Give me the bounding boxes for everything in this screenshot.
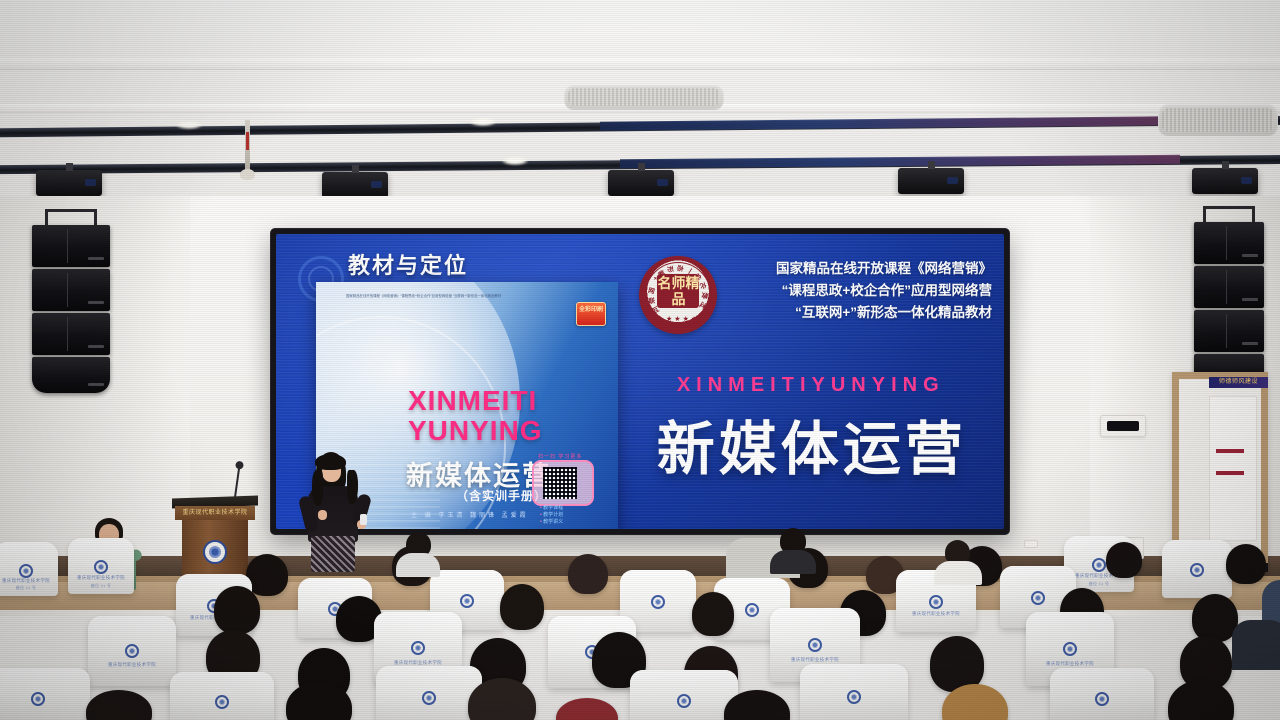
school-emblem-icon (929, 595, 943, 609)
book-pinyin-line1: XINMEITI (408, 385, 537, 416)
book-qr-bubble: 扫一扫 学习更多 教学课程 教学计划 教学讲义 (526, 454, 602, 524)
attendee-head (86, 690, 152, 720)
seat-cover-text: 重庆现代职业技术学院 (68, 575, 134, 581)
attendee-head (214, 586, 260, 634)
book-pinyin-line2: YUNYING (408, 415, 543, 446)
speaker-stack-left (32, 225, 110, 395)
air-conditioning-vent (1158, 104, 1278, 136)
seat-cover (800, 664, 908, 720)
presentation-clicker (360, 514, 367, 525)
school-emblem-icon (215, 695, 229, 709)
attendee-shoulders (1232, 620, 1280, 670)
seat-cover (0, 668, 90, 720)
attendee-head (556, 698, 618, 720)
seat-cover (170, 672, 274, 720)
school-emblem-icon (422, 691, 436, 705)
seat-cover-text: 重庆现代职业技术学院 (1026, 661, 1114, 667)
seat-cover-text: 重庆现代职业技术学院 (770, 657, 860, 663)
school-emblem-icon (31, 692, 45, 706)
attendee-head (1106, 542, 1142, 578)
list-item: 教学课程 (540, 505, 563, 512)
school-emblem-icon (19, 564, 33, 578)
slide-line-2: “课程思政+校企合作”应用型网络营 (731, 280, 992, 302)
fire-sprinkler (245, 120, 250, 172)
attendee-head (500, 584, 544, 630)
ceiling-spot-light (1192, 168, 1258, 194)
attendee-head (1192, 594, 1238, 642)
ceiling-downlight (470, 118, 496, 126)
school-emblem-icon (847, 690, 861, 704)
ceiling-downlight (176, 121, 202, 129)
seat-cover (1050, 668, 1154, 720)
attendee-head (568, 554, 608, 594)
seat-cover-number: 座位 11 号 (68, 583, 134, 589)
school-emblem-icon (1092, 558, 1106, 572)
podium-sign: 重庆现代职业技术学院 (175, 506, 255, 520)
school-emblem-icon (460, 594, 474, 608)
school-emblem-icon (411, 641, 425, 655)
seat-cover-text: 重庆现代职业技术学院 (0, 578, 58, 584)
school-emblem-icon (1095, 692, 1109, 706)
attendee-front (770, 528, 816, 572)
seal-center-text: 名师精品 (657, 274, 699, 308)
speaker-stack-right (1194, 222, 1264, 392)
slide-heading: 教材与定位 (348, 248, 468, 280)
attendee-head (246, 554, 288, 596)
quality-seal-badge: 互联网+新形态一体化教材 名师精品 ★★★★★ (639, 256, 717, 334)
slide-description-lines: 国家精品在线开放课程《网络营销》 “课程思政+校企合作”应用型网络营 “互联网+… (731, 258, 992, 324)
school-emblem-icon (94, 560, 108, 574)
seat-cover-text: 重庆现代职业技术学院 (374, 660, 462, 666)
seal-rim-char: 联 (648, 295, 656, 306)
school-emblem-icon (125, 644, 139, 658)
list-item: 教学计划 (540, 512, 563, 519)
slide-right-panel: 互联网+新形态一体化教材 名师精品 ★★★★★ 国家精品在线开放课程《网络营销》… (625, 234, 1004, 529)
seat-cover-text: 重庆现代职业技术学院 (88, 662, 176, 668)
slide-big-pinyin: XINMEITIYUNYING (625, 374, 996, 397)
ceiling-spot-light (898, 168, 964, 194)
seat-cover: 重庆现代职业技术学院 座位 11 号 (68, 538, 134, 594)
seat-cover (376, 666, 482, 720)
ceiling-panel (0, 0, 1280, 66)
book-authors: 主 编 李玉清 魏丽锋 孟爱霞 (411, 510, 529, 519)
lecture-hall-photo: 师德师风建设 教材与定位 国家精品在线开放课程《网络营销》“课程思政+校企合作”… (0, 0, 1280, 720)
seat-cover (630, 670, 738, 720)
led-display-screen[interactable]: 教材与定位 国家精品在线开放课程《网络营销》“课程思政+校企合作”应用型网络营 … (271, 229, 1009, 534)
book-badge: 全彩印刷 (576, 302, 606, 326)
school-emblem-icon (1063, 642, 1077, 656)
seal-rim-char: 网 (648, 284, 657, 295)
ceiling-spot-light (608, 170, 674, 196)
ceiling-spot-light (36, 170, 102, 196)
seat-cover-number: 座位 11 号 (0, 585, 58, 591)
book-pinyin: XINMEITI YUNYING (408, 386, 543, 446)
slide-big-title: 新媒体运营 (625, 416, 998, 484)
school-emblem-icon (808, 638, 822, 652)
ceiling-spot-light (322, 172, 388, 198)
attendee-head (468, 678, 536, 720)
school-emblem-icon (1190, 563, 1204, 577)
attendee-front (934, 540, 982, 582)
seat-cover (1162, 540, 1232, 598)
school-emblem-icon (745, 603, 759, 617)
attendee-front (396, 532, 440, 574)
seat-cover: 重庆现代职业技术学院 座位 11 号 (0, 542, 58, 596)
attendee-head (1226, 544, 1266, 584)
presentation-slide: 教材与定位 国家精品在线开放课程《网络营销》“课程思政+校企合作”应用型网络营 … (276, 234, 1004, 529)
poster-header: 师德师风建设 (1209, 377, 1268, 388)
school-emblem-icon (651, 595, 665, 609)
wall-speaker (1100, 415, 1146, 437)
seat-cover-text: 重庆现代职业技术学院 (896, 611, 976, 617)
qr-label: 扫一扫 学习更多 (538, 453, 582, 460)
air-conditioning-vent (564, 84, 724, 110)
podium-sign-text: 重庆现代职业技术学院 (175, 506, 255, 520)
poster-header-text: 师德师风建设 (1209, 377, 1268, 388)
attendee-head (692, 592, 734, 636)
qr-code-icon (543, 467, 577, 499)
ceiling-downlight (502, 157, 528, 165)
seat-cover: 重庆现代职业技术学院 (88, 616, 176, 686)
ceiling-band (0, 58, 1280, 70)
school-emblem-icon (677, 694, 691, 708)
audience-seating: 重庆现代职业技术学院 座位 11 号 重庆现代职业技术学院 座位 11 号 重庆… (0, 520, 1280, 720)
attendee-head (1168, 680, 1234, 720)
book-top-note: 国家精品在线开放课程《网络营销》“课程思政+校企合作”应用型网络营 “互联网+”… (346, 294, 541, 299)
slide-line-1: 国家精品在线开放课程《网络营销》 (731, 258, 992, 280)
school-emblem-icon (1031, 591, 1045, 605)
seal-stars: ★★★★★ (641, 315, 715, 323)
slide-line-3: “互联网+”新形态一体化精品教材 (731, 302, 992, 324)
